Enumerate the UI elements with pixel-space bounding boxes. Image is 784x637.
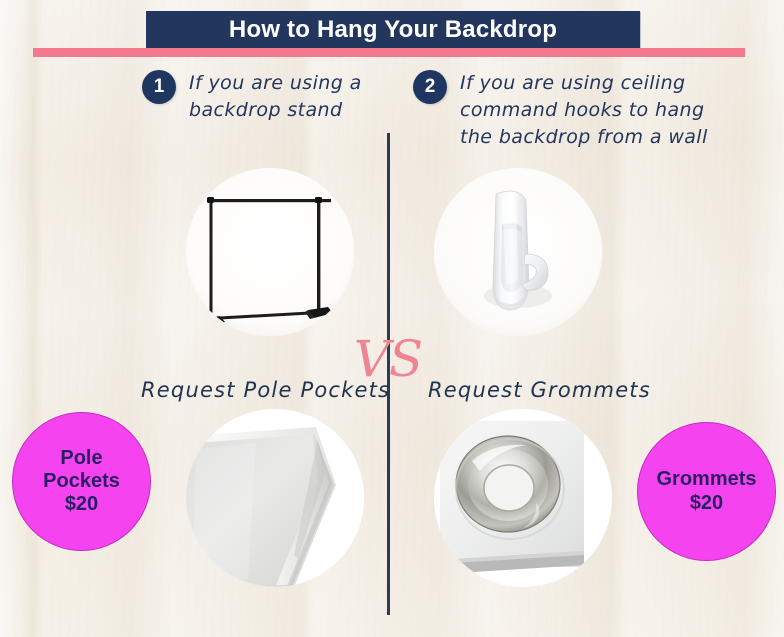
grommets-badge-line-1: Grommets: [656, 468, 756, 491]
right-caption: Request Grommets: [428, 378, 651, 402]
grommets-price-badge: Grommets $20: [637, 422, 776, 561]
infographic-canvas: How to Hang Your Backdrop 1 If you are u…: [0, 0, 784, 637]
accent-rule: [33, 48, 745, 57]
page-title: How to Hang Your Backdrop: [229, 16, 557, 44]
step-2-number-badge: 2: [413, 70, 447, 104]
step-1-number-badge: 1: [142, 70, 176, 104]
step-1: 1 If you are using a backdrop stand: [142, 70, 382, 124]
pole-pockets-badge-line-2: Pockets: [43, 470, 120, 493]
pole-pockets-badge-price: $20: [65, 493, 98, 516]
title-banner: How to Hang Your Backdrop: [146, 11, 640, 49]
command-hook-photo: [434, 168, 602, 336]
left-caption: Request Pole Pockets: [141, 378, 390, 402]
pole-pockets-badge-line-1: Pole: [60, 447, 102, 470]
backdrop-stand-photo: [186, 168, 354, 336]
grommets-badge-price: $20: [690, 492, 723, 515]
grommet-eyelet-photo: [434, 409, 612, 587]
step-2: 2 If you are using ceiling command hooks…: [413, 70, 743, 151]
step-1-label: If you are using a backdrop stand: [189, 70, 382, 124]
pole-pocket-fabric-photo: [186, 409, 364, 587]
step-2-label: If you are using ceiling command hooks t…: [460, 70, 743, 151]
pole-pockets-price-badge: Pole Pockets $20: [12, 412, 151, 551]
